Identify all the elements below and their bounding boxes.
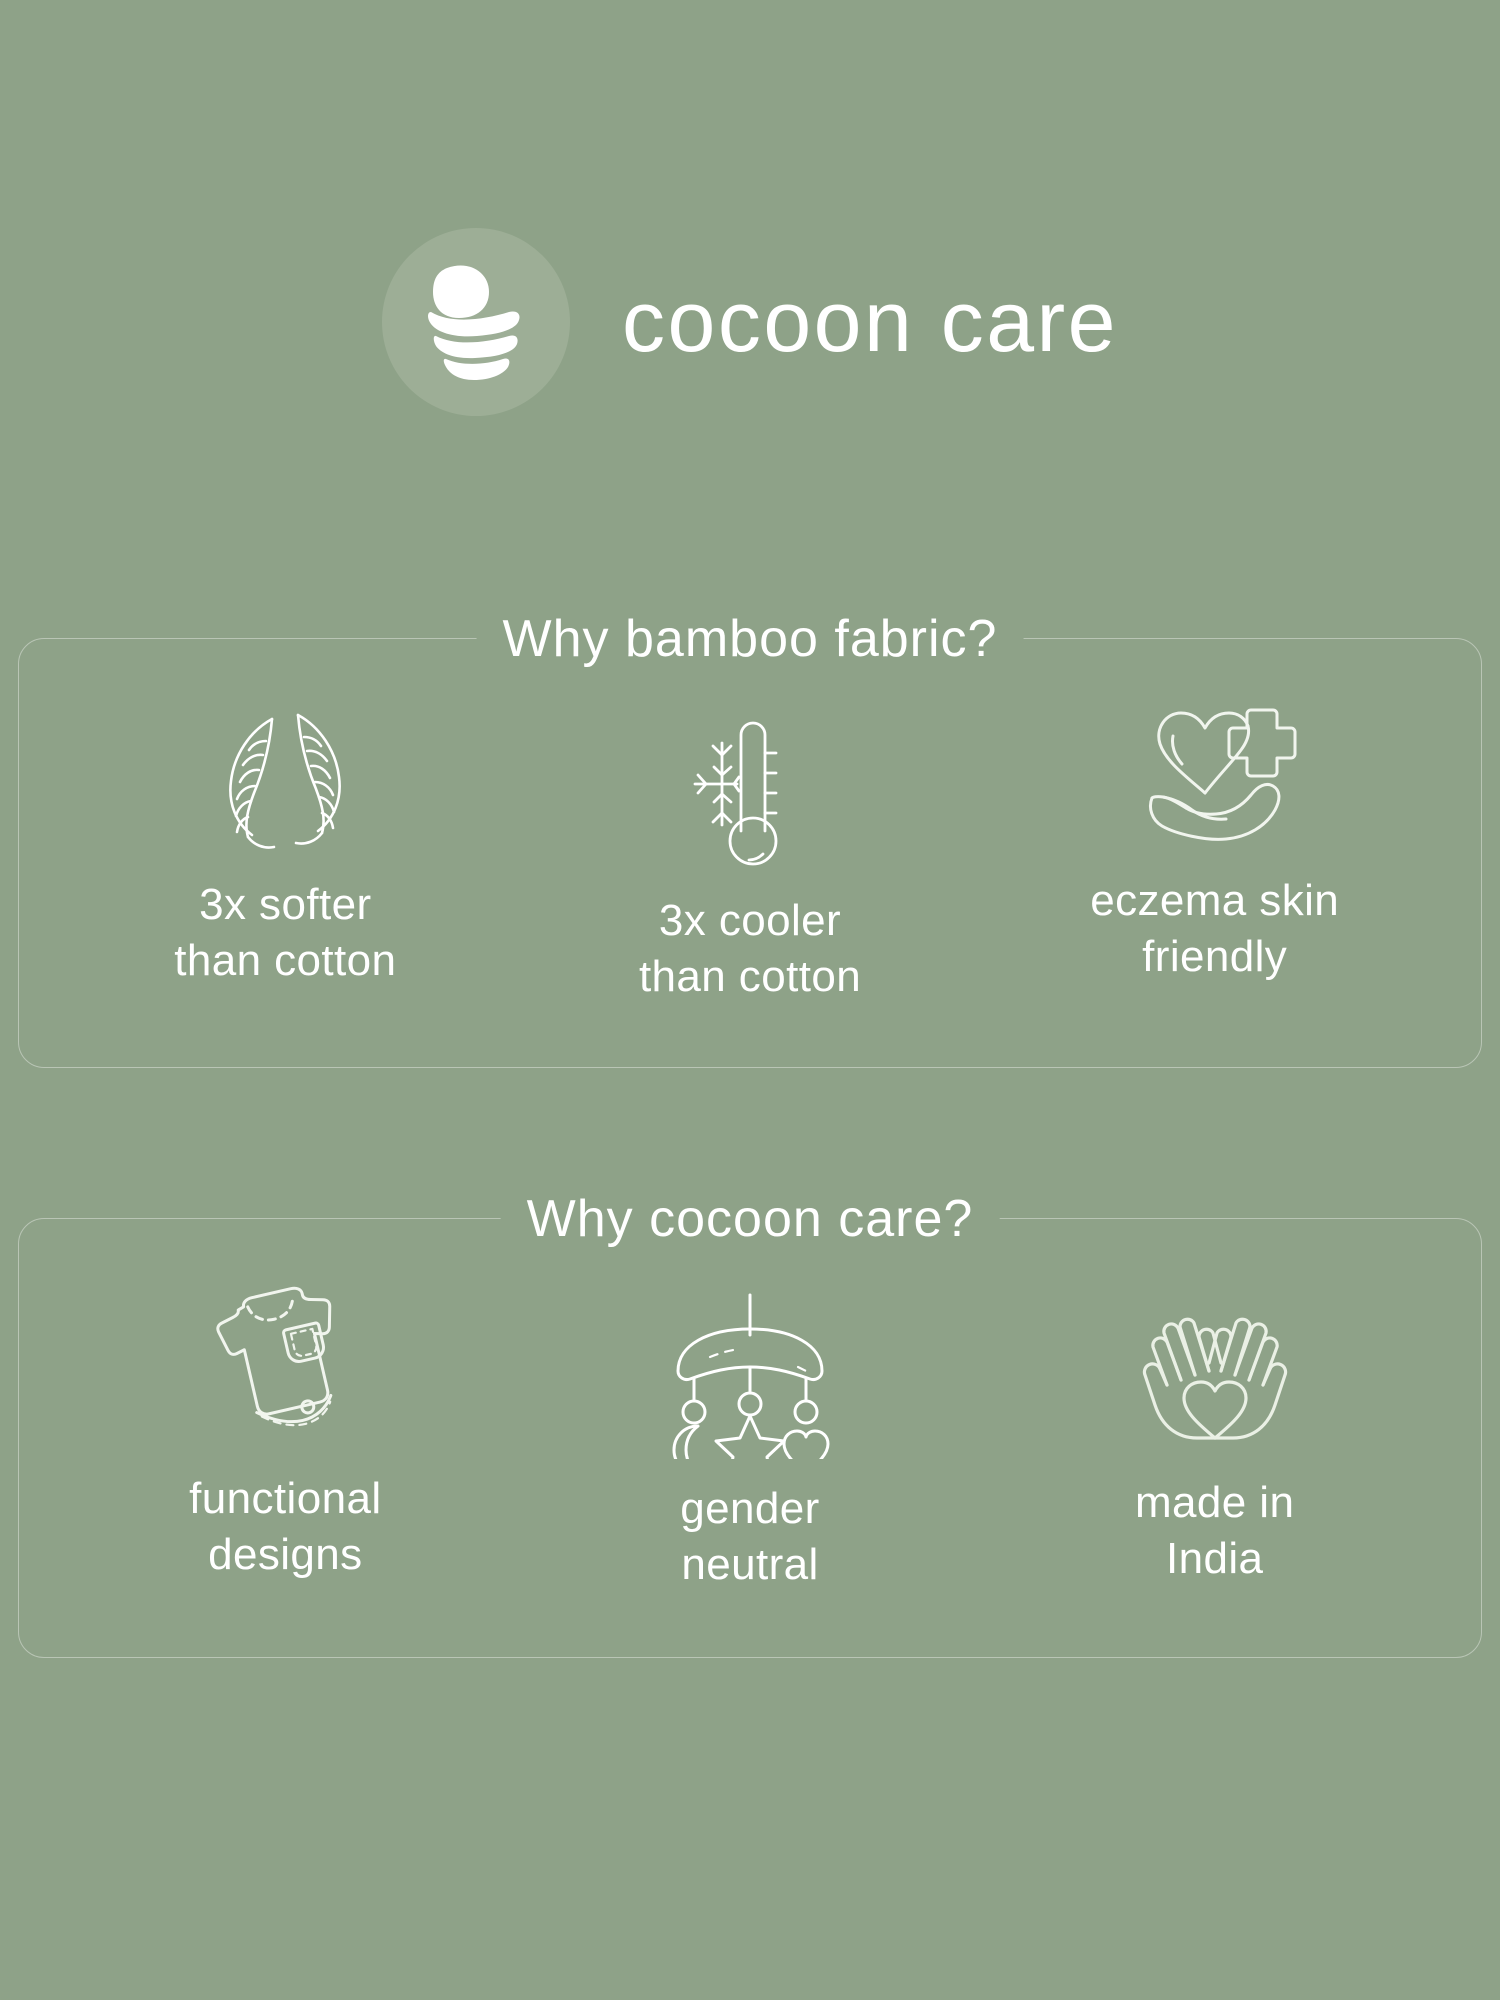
feature-gender-neutral: gender neutral	[518, 1281, 983, 1594]
heart-cross-hand-icon	[1130, 689, 1300, 857]
feature-row: 3x softer than cotton	[19, 639, 1481, 1067]
feature-softer: 3x softer than cotton	[53, 701, 518, 990]
infographic-page: cocoon care Why bamboo fabric?	[0, 0, 1500, 2000]
hands-heart-icon	[1130, 1281, 1300, 1459]
baby-onesie-icon	[210, 1277, 360, 1455]
feature-label: gender neutral	[680, 1481, 819, 1594]
brand-name: cocoon care	[622, 279, 1118, 365]
feature-label: functional designs	[189, 1471, 381, 1584]
feature-label-line1: 3x cooler	[659, 896, 841, 945]
brand-logo	[382, 228, 570, 416]
brand-header: cocoon care	[0, 228, 1500, 416]
feature-label-line1: gender	[680, 1484, 819, 1533]
feature-label-line1: made in	[1135, 1478, 1294, 1527]
feature-label-line2: India	[1166, 1534, 1263, 1583]
feature-label-line1: functional	[189, 1474, 381, 1523]
feature-label: eczema skin friendly	[1090, 873, 1339, 986]
cocoon-swaddle-logo-icon	[417, 262, 535, 382]
feature-cooler: 3x cooler than cotton	[518, 701, 983, 1006]
feature-label-line1: 3x softer	[199, 880, 371, 929]
feature-label-line1: eczema skin	[1090, 876, 1339, 925]
baby-mobile-icon	[664, 1287, 836, 1465]
feature-functional-designs: functional designs	[53, 1281, 518, 1584]
feature-label: 3x cooler than cotton	[639, 893, 861, 1006]
feathers-icon	[210, 693, 360, 861]
feature-label-line2: than cotton	[639, 952, 861, 1001]
feature-label-line2: neutral	[681, 1540, 818, 1589]
feature-label: 3x softer than cotton	[174, 877, 396, 990]
feature-made-in-india: made in India	[982, 1281, 1447, 1588]
thermometer-snowflake-icon	[675, 709, 825, 877]
feature-label: made in India	[1135, 1475, 1294, 1588]
section-why-cocoon-care: Why cocoon care?	[18, 1218, 1482, 1658]
section-why-bamboo-fabric: Why bamboo fabric?	[18, 638, 1482, 1068]
feature-label-line2: designs	[208, 1530, 362, 1579]
feature-label-line2: friendly	[1142, 932, 1287, 981]
feature-eczema: eczema skin friendly	[982, 701, 1447, 986]
feature-label-line2: than cotton	[174, 936, 396, 985]
feature-row: functional designs	[19, 1219, 1481, 1657]
